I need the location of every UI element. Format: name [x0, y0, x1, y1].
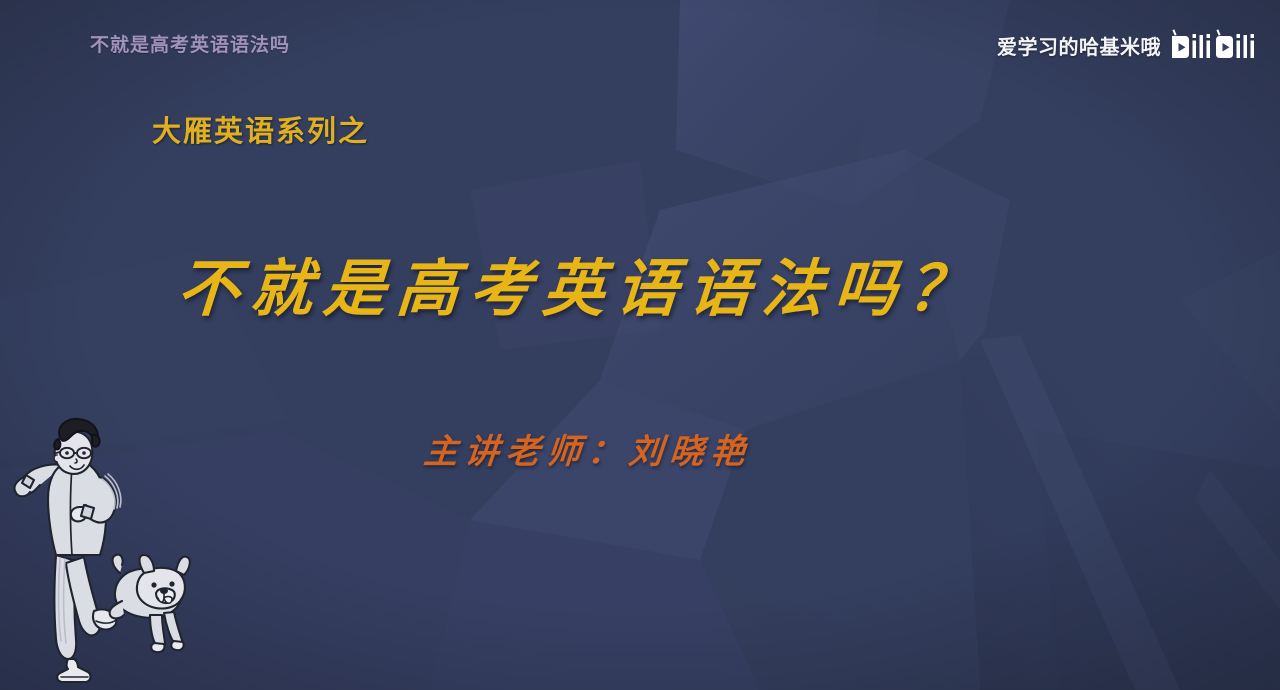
uploader-nickname: 爱学习的哈基米哦	[997, 31, 1161, 60]
watermark-top-left: 不就是高考英语语法吗	[90, 30, 290, 57]
series-label: 大雁英语系列之	[152, 108, 369, 150]
video-title-slide: 不就是高考英语语法吗 爱学习的哈基米哦	[0, 0, 1280, 690]
slide-title: 不就是高考英语语法吗？	[175, 238, 984, 328]
jogger-with-dog-illustration	[8, 415, 238, 685]
presenter-line: 主讲老师：刘晓艳	[422, 424, 754, 473]
bilibili-logo	[1170, 28, 1266, 62]
watermark-top-right: 爱学习的哈基米哦	[997, 28, 1266, 62]
